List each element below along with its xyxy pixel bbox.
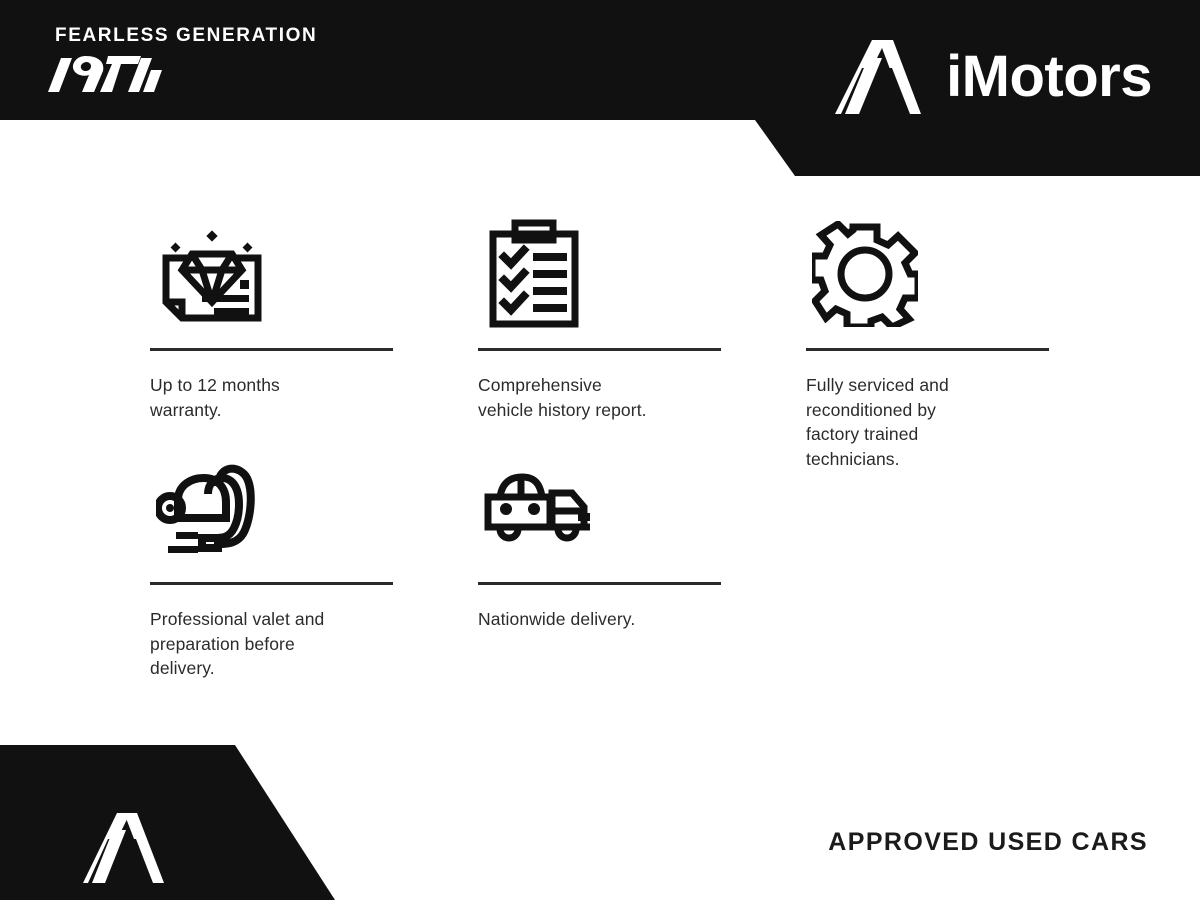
brand-lockup: iMotors <box>832 38 1152 116</box>
feature-caption: Professional valet and preparation befor… <box>150 607 393 681</box>
feature-divider <box>478 348 721 351</box>
footer-tagline: APPROVED USED CARS <box>828 828 1148 857</box>
feature-item: Comprehensive vehicle history report. <box>478 214 721 422</box>
feature-caption: Up to 12 months warranty. <box>150 373 393 422</box>
page-footer: APPROVED USED CARS <box>0 736 1200 900</box>
footer-background-shape <box>0 745 340 900</box>
header-year-1971 <box>42 48 162 100</box>
feature-caption: Nationwide delivery. <box>478 607 721 632</box>
clipboard-checklist-icon <box>478 214 721 334</box>
header-tagline: FEARLESS GENERATION <box>55 25 317 47</box>
feature-item: Nationwide delivery. <box>478 448 721 632</box>
page-header: FEARLESS GENERATION <box>0 0 1200 176</box>
feature-caption: Fully serviced and reconditioned by fact… <box>806 373 1049 471</box>
feature-divider <box>478 582 721 585</box>
feature-divider <box>150 348 393 351</box>
feature-divider <box>806 348 1049 351</box>
imotors-chevron-logo-icon <box>80 811 166 885</box>
header-background-shape <box>0 0 1200 176</box>
warranty-certificate-icon <box>150 214 393 334</box>
brand-name: iMotors <box>946 48 1152 106</box>
feature-item: Professional valet and preparation befor… <box>150 448 393 681</box>
features-grid: Up to 12 months warranty. <box>0 176 1200 736</box>
feature-caption: Comprehensive vehicle history report. <box>478 373 721 422</box>
vacuum-cleaner-icon <box>150 448 393 568</box>
feature-item: Fully serviced and reconditioned by fact… <box>806 214 1049 471</box>
feature-divider <box>150 582 393 585</box>
car-transporter-truck-icon <box>478 448 721 568</box>
imotors-chevron-logo-icon <box>832 38 924 116</box>
gear-icon <box>806 214 1049 334</box>
feature-item: Up to 12 months warranty. <box>150 214 393 422</box>
